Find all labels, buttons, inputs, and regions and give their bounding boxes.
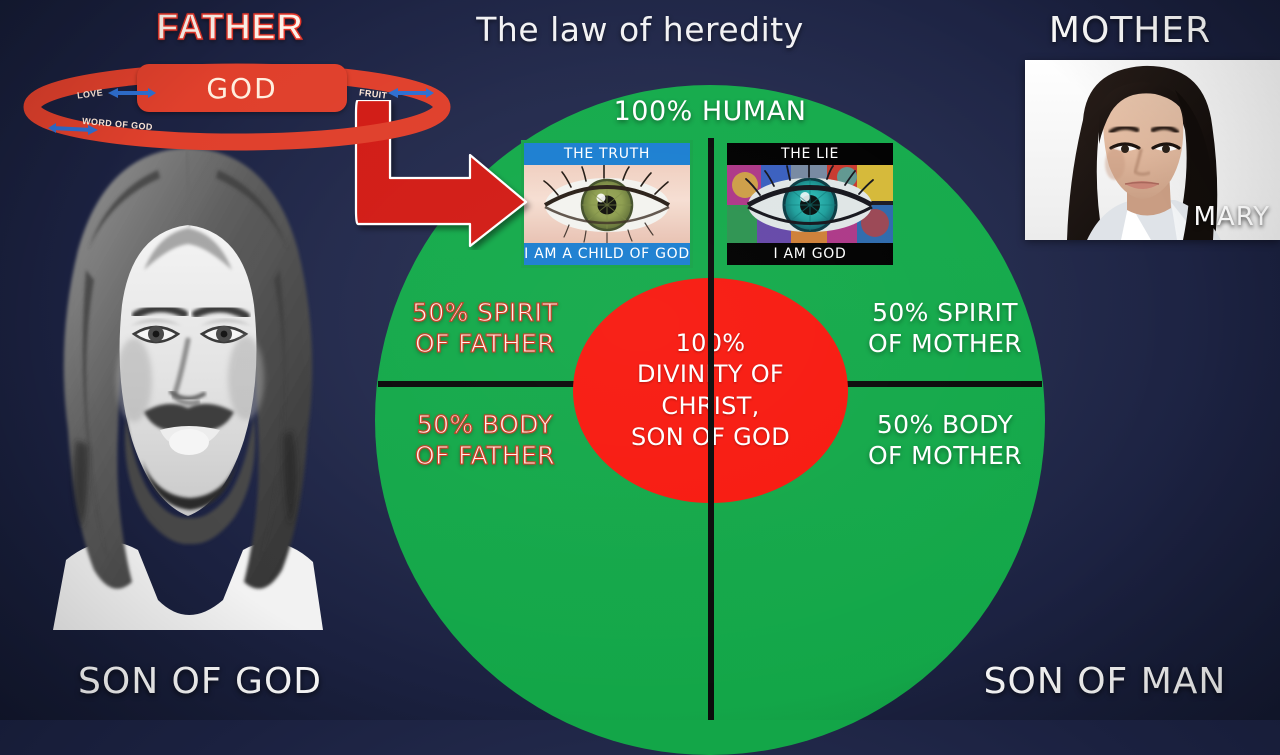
quadrant-left-spirit: 50% SPIRITOF FATHER (385, 298, 585, 359)
god-ring: GOD LOVE FRUIT WORD OF GOD (22, 62, 452, 152)
ring-arrow-fruit (388, 88, 434, 98)
quadrant-right-body-text: 50% BODYOF MOTHER (868, 410, 1022, 470)
panel-the-lie[interactable]: THE LIE (727, 143, 893, 265)
quadrant-right-spirit: 50% SPIRITOF MOTHER (840, 298, 1050, 359)
quadrant-right-spirit-text: 50% SPIRITOF MOTHER (868, 298, 1022, 358)
ring-arrow-love (108, 88, 156, 98)
quadrant-left-body-text: 50% BODYOF FATHER (415, 410, 555, 470)
label-son-of-god: SON OF GOD (20, 661, 380, 702)
jesus-portrait (8, 130, 368, 640)
slide-canvas: 100% HUMAN 50% SPIRITOF FATHER 50% BODYO… (0, 0, 1280, 720)
divider-vertical (708, 138, 714, 720)
panel-the-lie-caption-bottom: I AM GOD (727, 243, 893, 265)
label-son-of-man: SON OF MAN (940, 661, 1270, 702)
quadrant-right-body: 50% BODYOF MOTHER (840, 410, 1050, 471)
quadrant-left-spirit-text: 50% SPIRITOF FATHER (412, 298, 558, 358)
mary-name-caption: MARY (1193, 202, 1270, 232)
rainbow-eye-image (727, 165, 893, 243)
mary-photo-frame: MARY (1025, 60, 1280, 240)
panel-the-lie-caption-top: THE LIE (727, 143, 893, 165)
quadrant-left-body: 50% BODYOF FATHER (385, 410, 585, 471)
label-mother: MOTHER (980, 10, 1280, 51)
label-father: FATHER (90, 6, 370, 48)
